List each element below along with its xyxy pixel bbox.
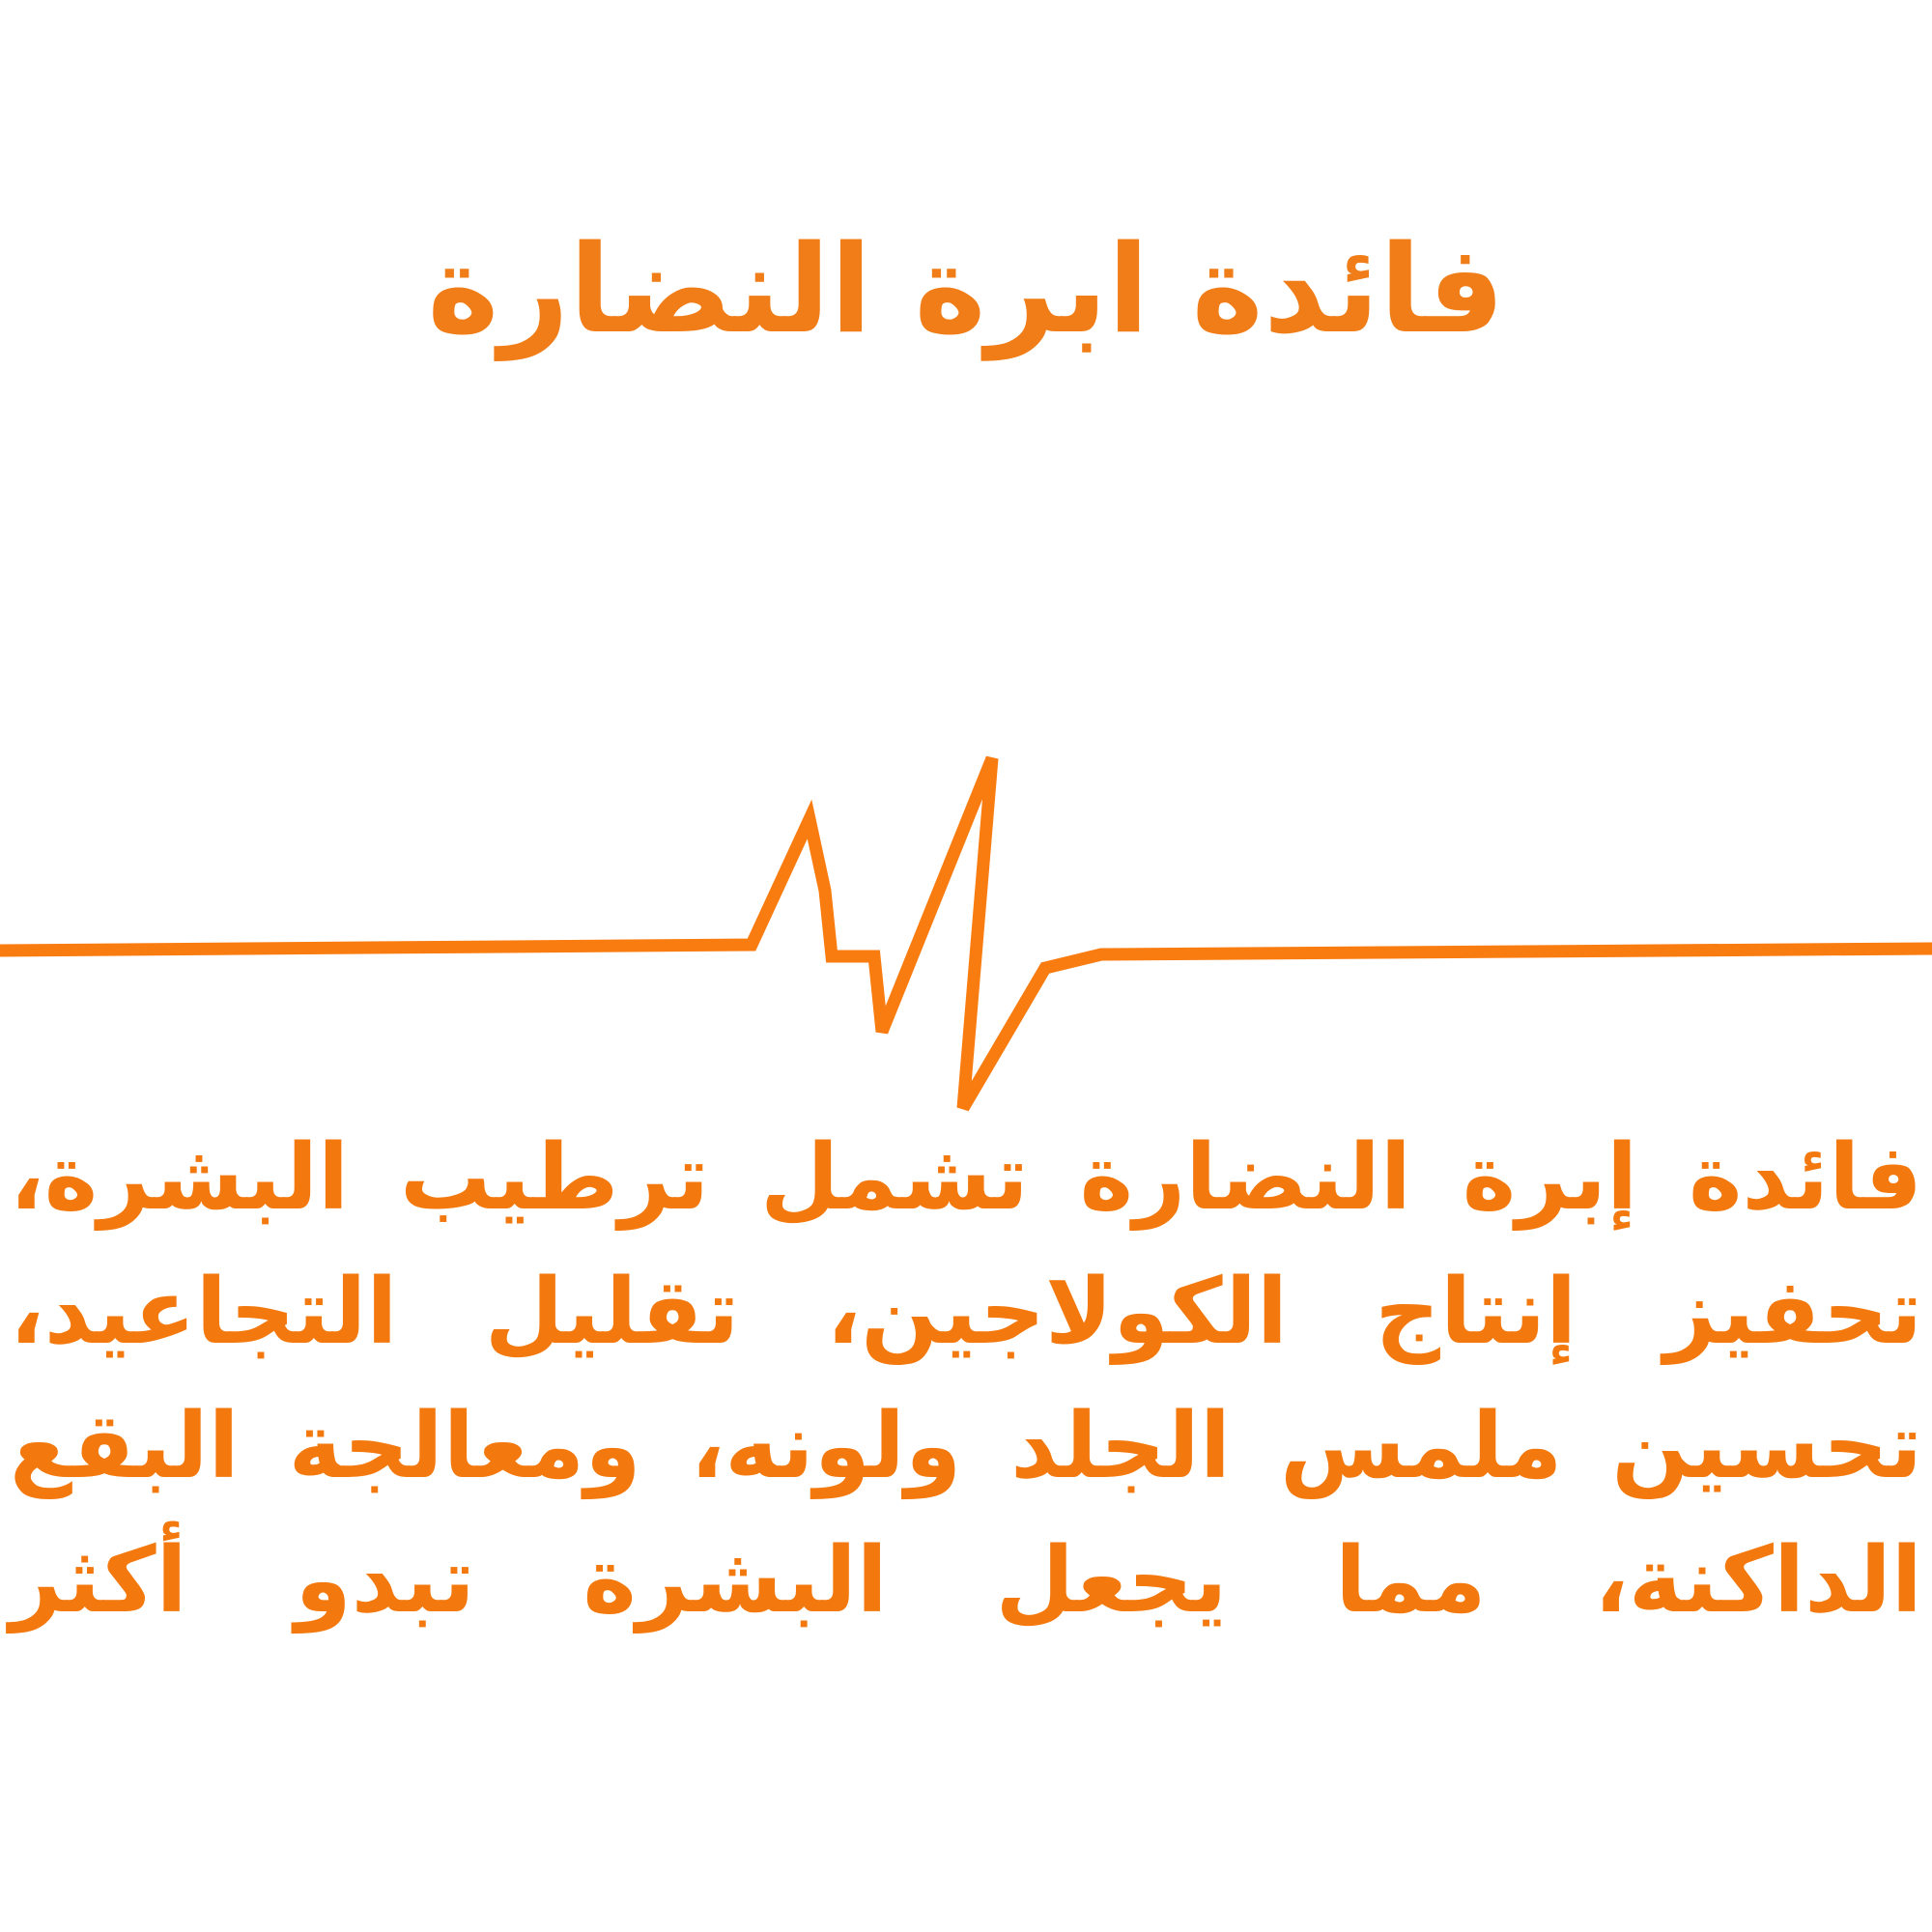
page-title: فائدة ابرة النضارة bbox=[427, 221, 1505, 357]
heartbeat-pulse-line-icon bbox=[0, 676, 1932, 1159]
title-section: فائدة ابرة النضارة bbox=[0, 0, 1932, 502]
heartbeat-pulse-svg bbox=[0, 676, 1932, 1159]
pulse-polyline bbox=[0, 758, 1932, 1108]
body-section: فائدة إبرة النضارة تشمل ترطيب البشرة، تح… bbox=[0, 1111, 1932, 1932]
body-paragraph: فائدة إبرة النضارة تشمل ترطيب البشرة، تح… bbox=[10, 1111, 1922, 1648]
poster-canvas: فائدة ابرة النضارة فائدة إبرة النضارة تش… bbox=[0, 0, 1932, 1932]
